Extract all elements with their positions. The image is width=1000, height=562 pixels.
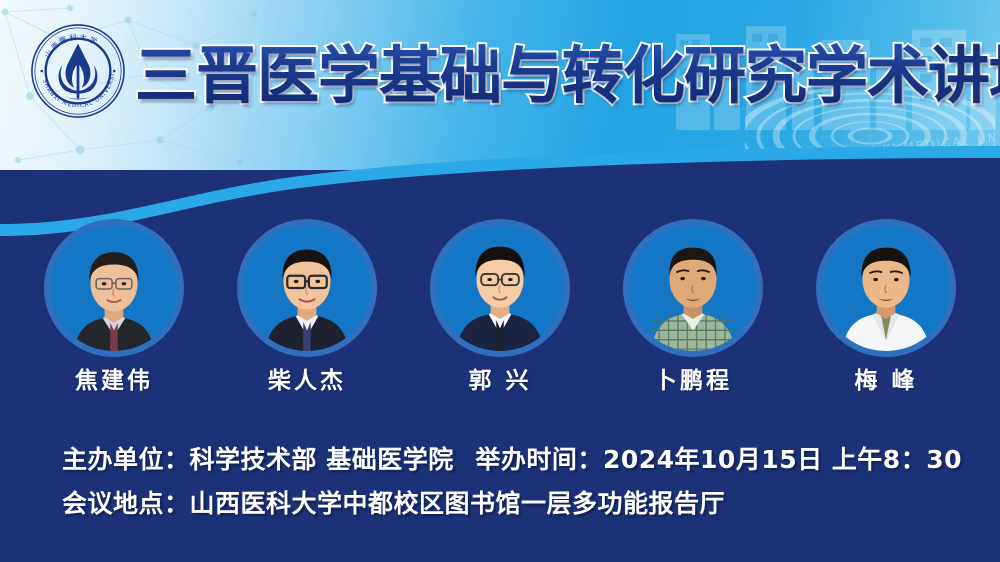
speakers-row: 焦建伟 (0, 225, 1000, 395)
organizer-label: 主办单位： (62, 438, 190, 482)
organizer-value: 科学技术部 基础医学院 (190, 438, 454, 482)
speaker-name: 梅 峰 (854, 361, 917, 395)
conference-poster: SHANXI MEDICAL UNIVERSITY 山西医科大学 SHANXI … (0, 0, 1000, 562)
speaker-card[interactable]: 郭 兴 (414, 225, 586, 395)
university-logo-icon: 山西医科大学 SHANXI MEDICAL UNIVERSITY (29, 22, 127, 120)
time-value: 2024年10月15日 上午8：30 (603, 438, 962, 482)
speaker-portrait (243, 225, 371, 351)
speaker-name: 卜鹏程 (654, 361, 732, 395)
logo-chinese-name: 山西医科大学 (43, 32, 100, 59)
speaker-card[interactable]: 柴人杰 (221, 225, 393, 395)
time-label: 举办时间： (475, 438, 603, 482)
venue-value: 山西医科大学中都校区图书馆一层多功能报告厅 (190, 482, 726, 526)
speaker-portrait (629, 225, 757, 351)
speaker-name: 郭 兴 (468, 361, 531, 395)
organizer-and-time-line: 主办单位： 科学技术部 基础医学院 举办时间： 2024年10月15日 上午8：… (62, 438, 962, 482)
venue-label: 会议地点： (62, 482, 190, 526)
event-details: 主办单位： 科学技术部 基础医学院 举办时间： 2024年10月15日 上午8：… (62, 438, 962, 526)
venue-line: 会议地点： 山西医科大学中都校区图书馆一层多功能报告厅 (62, 482, 962, 526)
speaker-name: 焦建伟 (75, 361, 153, 395)
speaker-card[interactable]: 焦建伟 (28, 225, 200, 395)
speaker-portrait (50, 225, 178, 351)
speaker-card[interactable]: 梅 峰 (800, 225, 972, 395)
header-banner: SHANXI MEDICAL UNIVERSITY 山西医科大学 SHANXI … (0, 0, 1000, 170)
speaker-portrait (822, 225, 950, 351)
speaker-card[interactable]: 卜鹏程 (607, 225, 779, 395)
speaker-portrait (436, 225, 564, 351)
speaker-name: 柴人杰 (268, 361, 346, 395)
page-title: 三晋医学基础与转化研究学术讲坛 (135, 27, 935, 112)
